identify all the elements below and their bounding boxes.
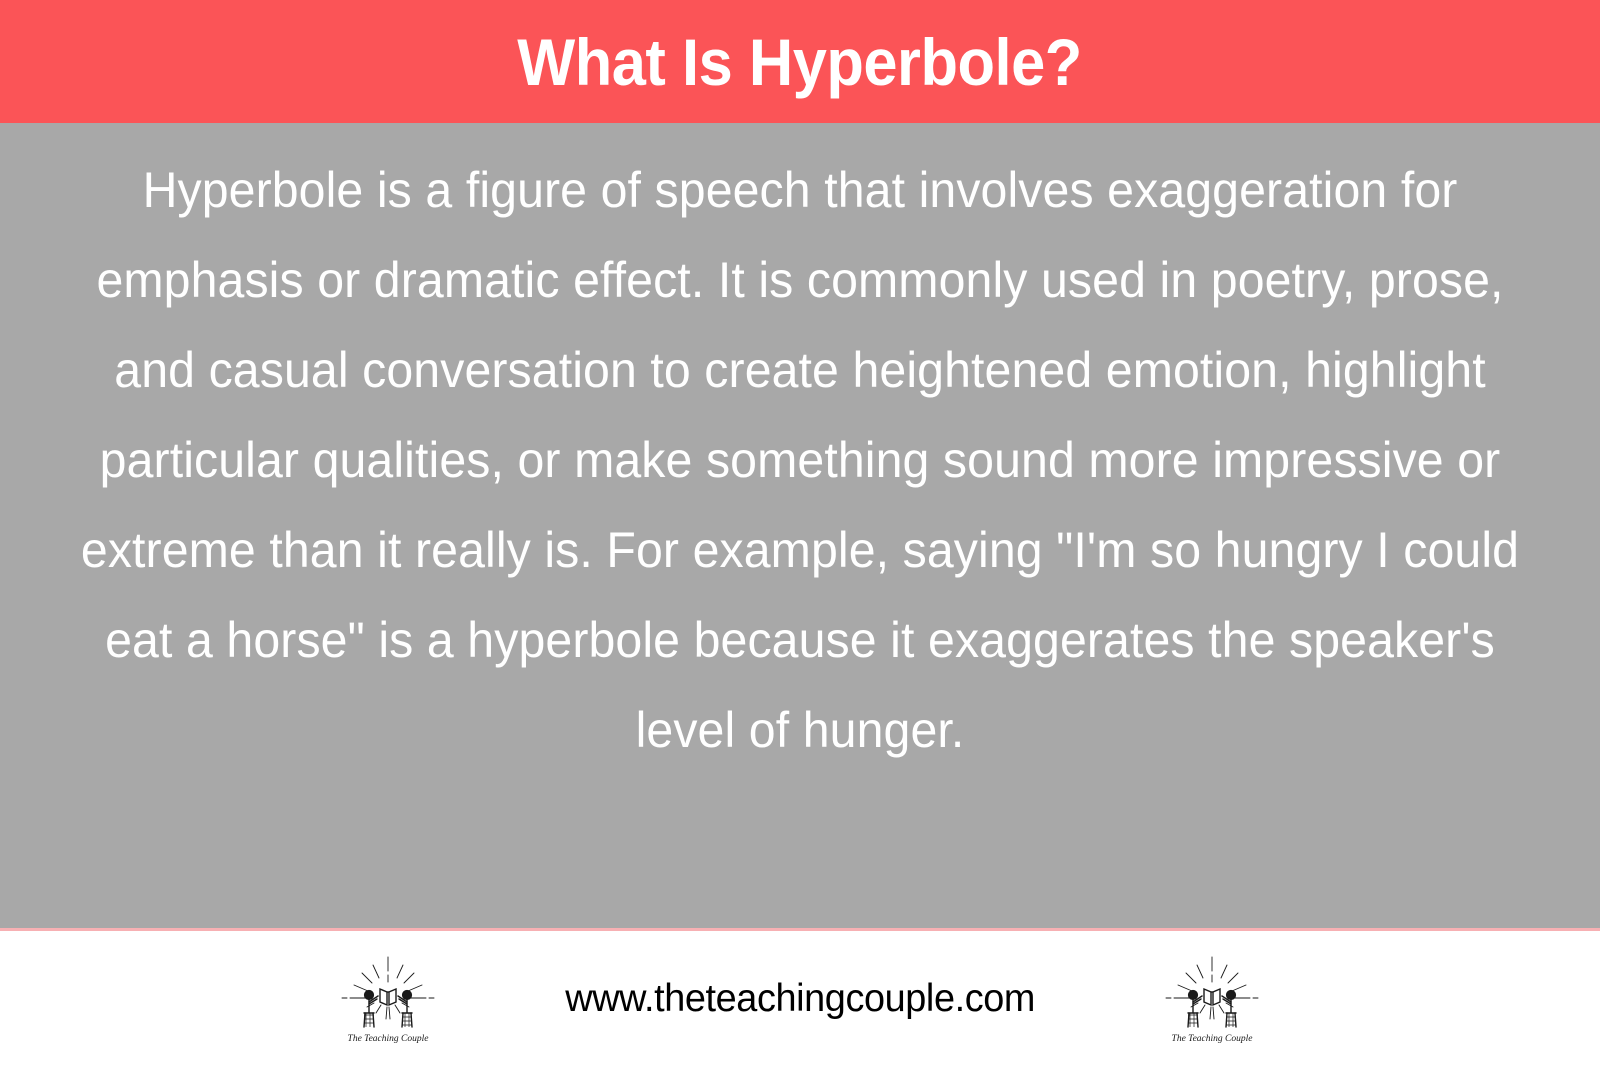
brand-logo-caption: The Teaching Couple [348, 1034, 429, 1044]
brand-logo-right-icon: The Teaching Couple [1164, 951, 1260, 1047]
header-band: What Is Hyperbole? [0, 0, 1600, 123]
website-url[interactable]: www.theteachingcouple.com [565, 977, 1035, 1021]
footer-band: The Teaching Couple www.theteachingcoupl… [0, 931, 1600, 1066]
brand-logo-caption: The Teaching Couple [1172, 1034, 1253, 1044]
definition-paragraph: Hyperbole is a figure of speech that inv… [62, 145, 1538, 775]
footer-content: The Teaching Couple www.theteachingcoupl… [340, 951, 1260, 1047]
body-band: Hyperbole is a figure of speech that inv… [0, 123, 1600, 931]
brand-logo-left-icon: The Teaching Couple [340, 951, 436, 1047]
page-title: What Is Hyperbole? [518, 29, 1083, 95]
infographic-card: What Is Hyperbole? Hyperbole is a figure… [0, 0, 1600, 1066]
